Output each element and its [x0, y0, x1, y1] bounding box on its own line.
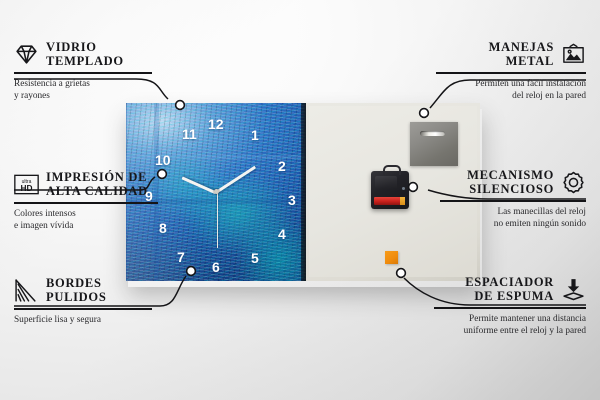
clock-numeral-3: 3 [288, 193, 296, 207]
callout-desc-line1: Colores intensos [14, 208, 169, 220]
callout-header: MANEJAS METAL [436, 40, 586, 68]
callout-desc-line2: no emiten ningún sonido [440, 218, 586, 230]
clock-numeral-7: 7 [177, 250, 185, 264]
foam-spacer-icon [561, 277, 586, 302]
mechanism-adjust-dial [402, 187, 405, 190]
callout-title: ESPACIADOR DE ESPUMA [465, 275, 554, 303]
foam-spacer-square [385, 251, 398, 264]
clock-mechanism-box [371, 171, 409, 209]
callout-description: Las manecillas del reloj no emiten ningú… [440, 206, 586, 230]
clock-numeral-4: 4 [278, 227, 286, 241]
callout-desc-line1: Permite mantener una distancia [434, 313, 586, 325]
callout-description: Permite mantener una distancia uniforme … [434, 313, 586, 337]
diamond-icon [14, 42, 39, 67]
callout-title-line2: PULIDOS [46, 290, 106, 304]
callout-manejas-metal: MANEJAS METAL Permiten una fácil instala… [436, 40, 586, 102]
svg-text:HD: HD [20, 183, 32, 193]
callout-vidrio-templado: VIDRIO TEMPLADO Resistencia a grietas y … [14, 40, 164, 102]
callout-title-line1: BORDES [46, 276, 106, 290]
callout-title-line2: TEMPLADO [46, 54, 124, 68]
callout-desc-line1: Permiten una fácil instalación [436, 78, 586, 90]
polished-edge-icon [14, 278, 39, 303]
callout-impresion-alta-calidad: ultra HD IMPRESIÓN DE ALTA CALIDAD Color… [14, 170, 169, 232]
callout-title: BORDES PULIDOS [46, 276, 106, 304]
callout-desc-line1: Resistencia a grietas [14, 78, 164, 90]
callout-description: Colores intensos e imagen vívida [14, 208, 169, 232]
clock-numeral-1: 1 [251, 128, 259, 142]
aa-battery [374, 197, 405, 205]
callout-header: BORDES PULIDOS [14, 276, 164, 304]
callout-description: Permiten una fácil instalación del reloj… [436, 78, 586, 102]
clock-numeral-10: 10 [155, 153, 171, 167]
callout-description: Superficie lisa y segura [14, 314, 164, 326]
callout-title: MECANISMO SILENCIOSO [467, 168, 554, 196]
callout-bordes-pulidos: BORDES PULIDOS Superficie lisa y segura [14, 276, 164, 326]
callout-title: IMPRESIÓN DE ALTA CALIDAD [46, 170, 148, 198]
gear-icon [561, 170, 586, 195]
callout-title: MANEJAS METAL [489, 40, 554, 68]
callout-desc-line2: y rayones [14, 90, 164, 102]
ultra-hd-icon: ultra HD [14, 172, 39, 197]
callout-description: Resistencia a grietas y rayones [14, 78, 164, 102]
metal-hanger-plate [410, 122, 458, 166]
clock-numeral-12: 12 [208, 117, 224, 131]
hanger-slot [420, 131, 445, 136]
callout-header: ESPACIADOR DE ESPUMA [434, 275, 586, 303]
callout-desc-line2: uniforme entre el reloj y la pared [434, 325, 586, 337]
callout-title-line2: ALTA CALIDAD [46, 184, 148, 198]
callout-rule [436, 72, 586, 74]
callout-espaciador-espuma: ESPACIADOR DE ESPUMA Permite mantener un… [434, 275, 586, 337]
mechanism-hanging-loop [383, 165, 401, 175]
callout-title-line1: VIDRIO [46, 40, 124, 54]
clock-hands-hub [214, 189, 219, 194]
callout-rule [14, 202, 158, 204]
callout-desc-line1: Las manecillas del reloj [440, 206, 586, 218]
callout-rule [14, 308, 152, 310]
callout-rule [434, 307, 586, 309]
clock-numeral-5: 5 [251, 251, 259, 265]
callout-mecanismo-silencioso: MECANISMO SILENCIOSO Las manecillas del … [440, 168, 586, 230]
callout-desc-line2: del reloj en la pared [436, 90, 586, 102]
callout-title-line2: METAL [489, 54, 554, 68]
callout-title-line1: IMPRESIÓN DE [46, 170, 148, 184]
callout-desc-line1: Superficie lisa y segura [14, 314, 164, 326]
callout-title-line2: DE ESPUMA [465, 289, 554, 303]
callout-header: VIDRIO TEMPLADO [14, 40, 164, 68]
clock-numeral-11: 11 [182, 127, 197, 141]
callout-rule [14, 72, 152, 74]
callout-title-line1: MECANISMO [467, 168, 554, 182]
clock-second-hand [217, 191, 219, 248]
picture-frame-icon [561, 42, 586, 67]
callout-title-line1: ESPACIADOR [465, 275, 554, 289]
callout-title-line1: MANEJAS [489, 40, 554, 54]
battery-positive-tip [400, 197, 405, 205]
mechanism-housing-detail [375, 176, 397, 189]
callout-header: ultra HD IMPRESIÓN DE ALTA CALIDAD [14, 170, 169, 198]
callout-title-line2: SILENCIOSO [467, 182, 554, 196]
infographic-canvas: 12 1 2 3 4 5 6 7 8 9 10 11 [0, 0, 600, 400]
clock-numeral-2: 2 [278, 159, 286, 173]
product-image: 12 1 2 3 4 5 6 7 8 9 10 11 [126, 103, 480, 281]
clock-numeral-6: 6 [212, 260, 220, 274]
callout-title: VIDRIO TEMPLADO [46, 40, 124, 68]
callout-header: MECANISMO SILENCIOSO [440, 168, 586, 196]
callout-desc-line2: e imagen vívida [14, 220, 169, 232]
callout-rule [440, 200, 586, 202]
